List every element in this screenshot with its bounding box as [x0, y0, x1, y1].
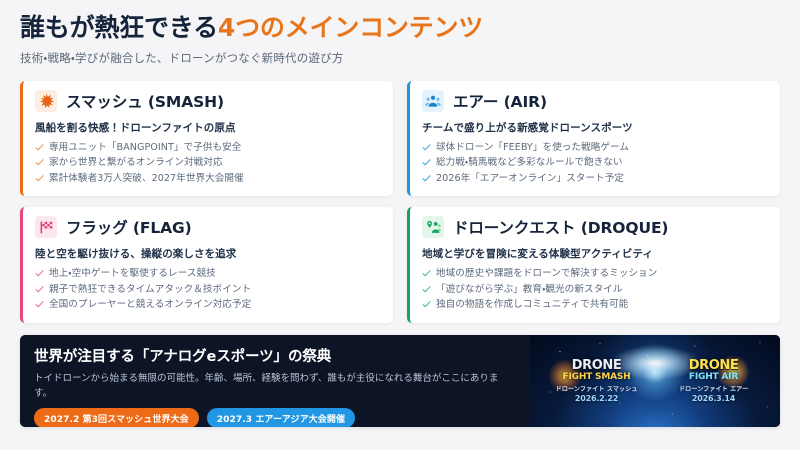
list-item: 家から世界と繋がるオンライン対戦対応	[35, 155, 381, 171]
card-bullet-list: 球体ドローン「FEEBY」を使った戦略ゲーム 総力戦・騎馬戦など多彩なルールで飽…	[422, 140, 768, 187]
card-bullet-list: 専用ユニット「BANGPOINT」で子供も安全 家から世界と繋がるオンライン対戦…	[35, 140, 381, 187]
status-badge-smash-worldcup[interactable]: 2027.2 第3回スマッシュ世界大会	[34, 408, 199, 427]
list-item-label: 球体ドローン「FEEBY」を使った戦略ゲーム	[436, 140, 629, 156]
card-header: ドローンクエスト (DROQUE)	[422, 216, 768, 238]
card-lead: チームで盛り上がる新感覚ドローンスポーツ	[422, 120, 768, 135]
check-icon	[35, 285, 44, 294]
list-item: 地域の歴史や課題をドローンで解決するミッション	[422, 266, 768, 282]
list-item-label: 累計体験者3万人突破、2027年世界大会開催	[49, 171, 244, 187]
artwork-logo-sub-text: FIGHT SMASH	[545, 372, 649, 382]
list-item-label: 親子で熱狂できるタイムアタック＆技ポイント	[49, 282, 251, 298]
list-item-label: 総力戦・騎馬戦など多彩なルールで飽きない	[436, 155, 623, 171]
list-item: 2026年「エアーオンライン」スタート予定	[422, 171, 768, 187]
list-item-label: 地域の歴史や課題をドローンで解決するミッション	[436, 266, 657, 282]
card-title: スマッシュ (SMASH)	[66, 90, 224, 112]
card-header: スマッシュ (SMASH)	[35, 90, 381, 112]
artwork-logo-row: DRONE FIGHT SMASH ドローンファイト スマッシュ 2026.2.…	[530, 335, 780, 427]
check-icon	[422, 269, 431, 278]
list-item: 累計体験者3万人突破、2027年世界大会開催	[35, 171, 381, 187]
banner-title: 世界が注目する「アナログeスポーツ」の祭典	[34, 345, 516, 366]
artwork-caption: ドローンファイト エアー	[662, 386, 766, 394]
check-icon	[35, 143, 44, 152]
content-card-droque[interactable]: ドローンクエスト (DROQUE) 地域と学びを冒険に変える体験型アクティビティ…	[407, 207, 780, 323]
artwork-date: 2026.2.22	[545, 394, 649, 403]
content-card-flag[interactable]: フラッグ (FLAG) 陸と空を駆け抜ける、操縦の楽しさを追求 地上・空中ゲート…	[20, 207, 393, 323]
list-item: 親子で熱狂できるタイムアタック＆技ポイント	[35, 282, 381, 298]
check-icon	[422, 285, 431, 294]
check-icon	[422, 143, 431, 152]
artwork-logo-smash: DRONE FIGHT SMASH ドローンファイト スマッシュ 2026.2.…	[545, 359, 649, 403]
check-icon	[422, 174, 431, 183]
check-icon	[422, 158, 431, 167]
card-bullet-list: 地上・空中ゲートを駆使するレース競技 親子で熱狂できるタイムアタック＆技ポイント…	[35, 266, 381, 313]
artwork-logo-main-text: DRONE	[662, 359, 766, 372]
artwork-logo-main-text: DRONE	[545, 359, 649, 372]
artwork-logo-sub-text: FIGHT AIR	[662, 372, 766, 382]
checkered-flag-icon	[35, 216, 57, 238]
list-item-label: 「遊びながら学ぶ」教育・観光の新スタイル	[436, 282, 623, 298]
page-subtitle: 技術・戦略・学びが融合した、ドローンがつなぐ新時代の遊び方	[20, 50, 780, 66]
card-header: フラッグ (FLAG)	[35, 216, 381, 238]
banner-artwork-image: DRONE FIGHT SMASH ドローンファイト スマッシュ 2026.2.…	[530, 335, 780, 427]
people-group-icon	[422, 90, 444, 112]
artwork-caption: ドローンファイト スマッシュ	[545, 386, 649, 394]
card-title: ドローンクエスト (DROQUE)	[453, 216, 668, 238]
list-item-label: 専用ユニット「BANGPOINT」で子供も安全	[49, 140, 241, 156]
banner-badge-row: 2027.2 第3回スマッシュ世界大会 2027.3 エアーアジア大会開催	[34, 408, 516, 427]
list-item-label: 家から世界と繋がるオンライン対戦対応	[49, 155, 223, 171]
content-card-grid: スマッシュ (SMASH) 風船を割る快感！ドローンファイトの原点 専用ユニット…	[20, 81, 780, 323]
check-icon	[422, 300, 431, 309]
list-item: 独自の物語を作成しコミュニティで共有可能	[422, 297, 768, 313]
check-icon	[35, 300, 44, 309]
artwork-logo-air: DRONE FIGHT AIR ドローンファイト エアー 2026.3.14	[662, 359, 766, 403]
festival-banner[interactable]: 世界が注目する「アナログeスポーツ」の祭典 トイドローンから始まる無限の可能性。…	[20, 335, 780, 427]
card-header: エアー (AIR)	[422, 90, 768, 112]
check-icon	[35, 174, 44, 183]
artwork-date: 2026.3.14	[662, 394, 766, 403]
card-title: フラッグ (FLAG)	[66, 216, 192, 238]
page-title: 誰もが熱狂できる4つのメインコンテンツ	[20, 14, 780, 43]
list-item: 総力戦・騎馬戦など多彩なルールで飽きない	[422, 155, 768, 171]
card-lead: 地域と学びを冒険に変える体験型アクティビティ	[422, 246, 768, 261]
banner-text-column: 世界が注目する「アナログeスポーツ」の祭典 トイドローンから始まる無限の可能性。…	[20, 335, 530, 427]
content-page: 誰もが熱狂できる4つのメインコンテンツ 技術・戦略・学びが融合した、ドローンがつ…	[0, 0, 800, 450]
map-pin-people-icon	[422, 216, 444, 238]
card-title: エアー (AIR)	[453, 90, 547, 112]
list-item: 地上・空中ゲートを駆使するレース競技	[35, 266, 381, 282]
page-title-main: 誰もが熱狂できる	[20, 13, 218, 42]
burst-icon	[35, 90, 57, 112]
list-item: 球体ドローン「FEEBY」を使った戦略ゲーム	[422, 140, 768, 156]
page-title-accent: 4つのメインコンテンツ	[218, 13, 483, 42]
list-item: 専用ユニット「BANGPOINT」で子供も安全	[35, 140, 381, 156]
status-badge-air-asia[interactable]: 2027.3 エアーアジア大会開催	[207, 408, 355, 427]
card-bullet-list: 地域の歴史や課題をドローンで解決するミッション 「遊びながら学ぶ」教育・観光の新…	[422, 266, 768, 313]
card-lead: 陸と空を駆け抜ける、操縦の楽しさを追求	[35, 246, 381, 261]
banner-description: トイドローンから始まる無限の可能性。年齢、場所、経験を問わず、誰もが主役になれる…	[34, 372, 504, 401]
content-card-air[interactable]: エアー (AIR) チームで盛り上がる新感覚ドローンスポーツ 球体ドローン「FE…	[407, 81, 780, 197]
check-icon	[35, 158, 44, 167]
list-item: 全国のプレーヤーと競えるオンライン対応予定	[35, 297, 381, 313]
list-item-label: 独自の物語を作成しコミュニティで共有可能	[436, 297, 628, 313]
list-item-label: 地上・空中ゲートを駆使するレース競技	[49, 266, 216, 282]
list-item-label: 2026年「エアーオンライン」スタート予定	[436, 171, 624, 187]
list-item: 「遊びながら学ぶ」教育・観光の新スタイル	[422, 282, 768, 298]
check-icon	[35, 269, 44, 278]
card-lead: 風船を割る快感！ドローンファイトの原点	[35, 120, 381, 135]
list-item-label: 全国のプレーヤーと競えるオンライン対応予定	[49, 297, 251, 313]
content-card-smash[interactable]: スマッシュ (SMASH) 風船を割る快感！ドローンファイトの原点 専用ユニット…	[20, 81, 393, 197]
